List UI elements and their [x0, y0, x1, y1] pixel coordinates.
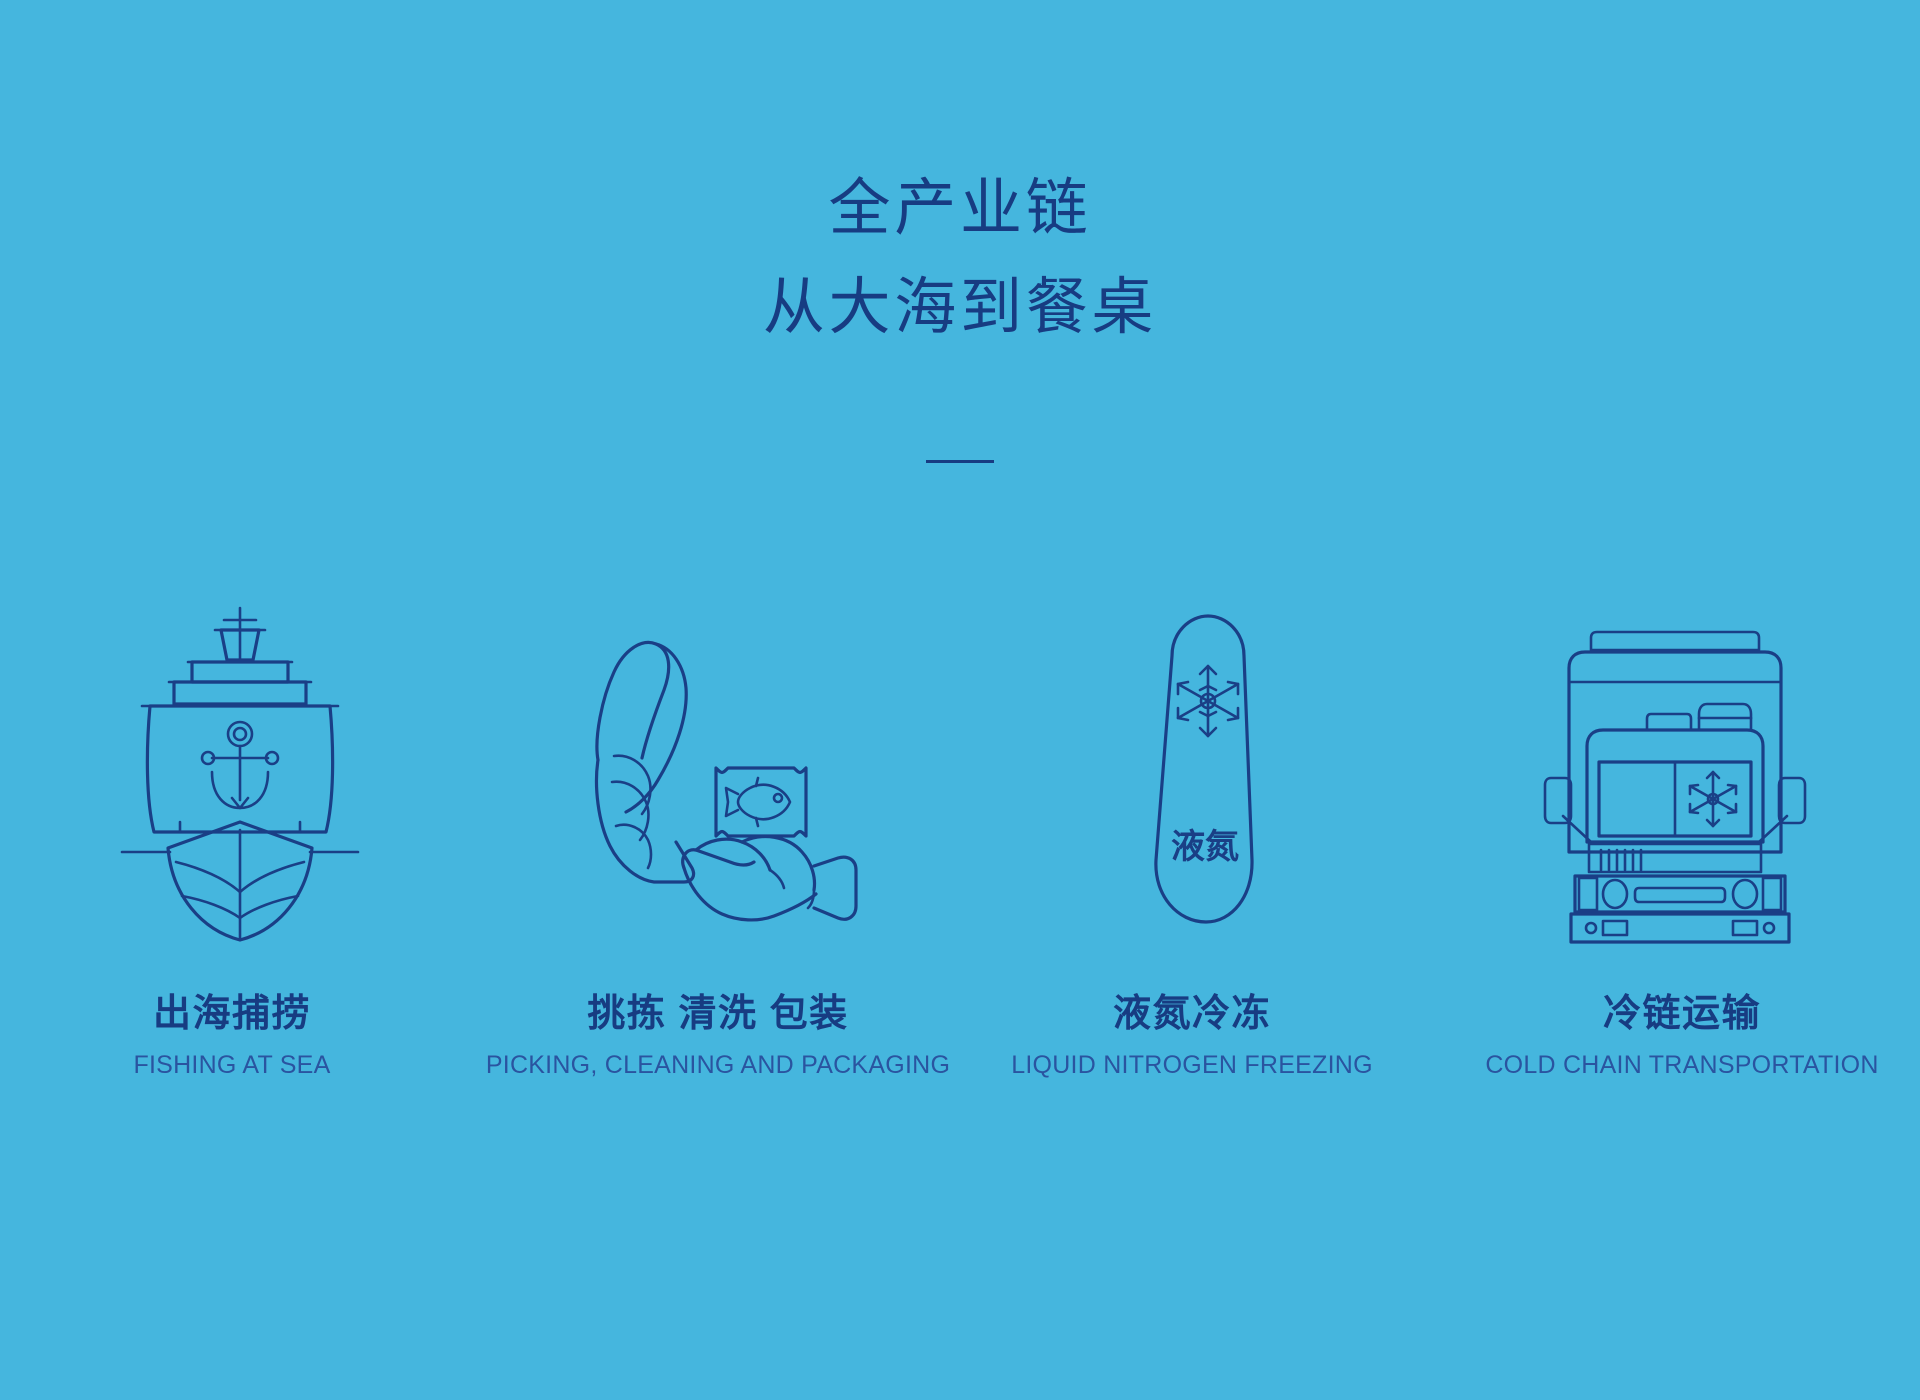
snowflake-icon: [1178, 666, 1238, 736]
step-title-en: FISHING AT SEA: [133, 1051, 330, 1080]
step-caption: 冷链运输 COLD CHAIN TRANSPORTATION: [1485, 982, 1878, 1080]
heading-divider-wrap: [0, 460, 1920, 463]
step-item[interactable]: 出海捕捞 FISHING AT SEA: [0, 520, 480, 1080]
heading-line-2: 从大海到餐桌: [0, 274, 1920, 339]
icon-slot: 液氮: [1120, 520, 1280, 940]
hands-fish-package-icon: [580, 620, 860, 940]
step-caption: 挑拣 清洗 包装 PICKING, CLEANING AND PACKAGING: [486, 982, 950, 1080]
step-caption: 出海捕捞 FISHING AT SEA: [133, 982, 330, 1080]
step-caption: 液氮冷冻 LIQUID NITROGEN FREEZING: [1011, 982, 1373, 1080]
icon-slot: [1535, 520, 1825, 940]
step-title-cn: 液氮冷冻: [1011, 982, 1373, 1037]
step-title-cn: 冷链运输: [1485, 982, 1878, 1037]
step-title-en: COLD CHAIN TRANSPORTATION: [1485, 1051, 1878, 1080]
step-item[interactable]: 液氮 液氮冷冻 LIQUID NITROGEN FREEZING: [960, 520, 1440, 1080]
step-item[interactable]: 挑拣 清洗 包装 PICKING, CLEANING AND PACKAGING: [480, 520, 960, 1080]
icon-slot: [580, 520, 860, 940]
step-title-cn: 挑拣 清洗 包装: [486, 982, 950, 1037]
page-heading: 全产业链 从大海到餐桌: [0, 175, 1920, 339]
page-root: 全产业链 从大海到餐桌: [0, 0, 1920, 1400]
step-title-en: PICKING, CLEANING AND PACKAGING: [486, 1051, 950, 1080]
step-item[interactable]: 冷链运输 COLD CHAIN TRANSPORTATION: [1440, 520, 1920, 1080]
step-title-cn: 出海捕捞: [133, 982, 330, 1037]
fishing-boat-icon: [120, 600, 360, 940]
tank-label: 液氮: [1171, 828, 1239, 866]
snowflake-icon: [1690, 772, 1736, 826]
liquid-nitrogen-tank-icon: 液氮: [1120, 610, 1280, 940]
step-title-en: LIQUID NITROGEN FREEZING: [1011, 1051, 1373, 1080]
icon-slot: [120, 520, 360, 940]
heading-line-1: 全产业链: [0, 175, 1920, 240]
process-steps: 出海捕捞 FISHING AT SEA: [0, 520, 1920, 1080]
heading-divider: [926, 460, 994, 463]
refrigerated-truck-icon: [1535, 620, 1825, 940]
